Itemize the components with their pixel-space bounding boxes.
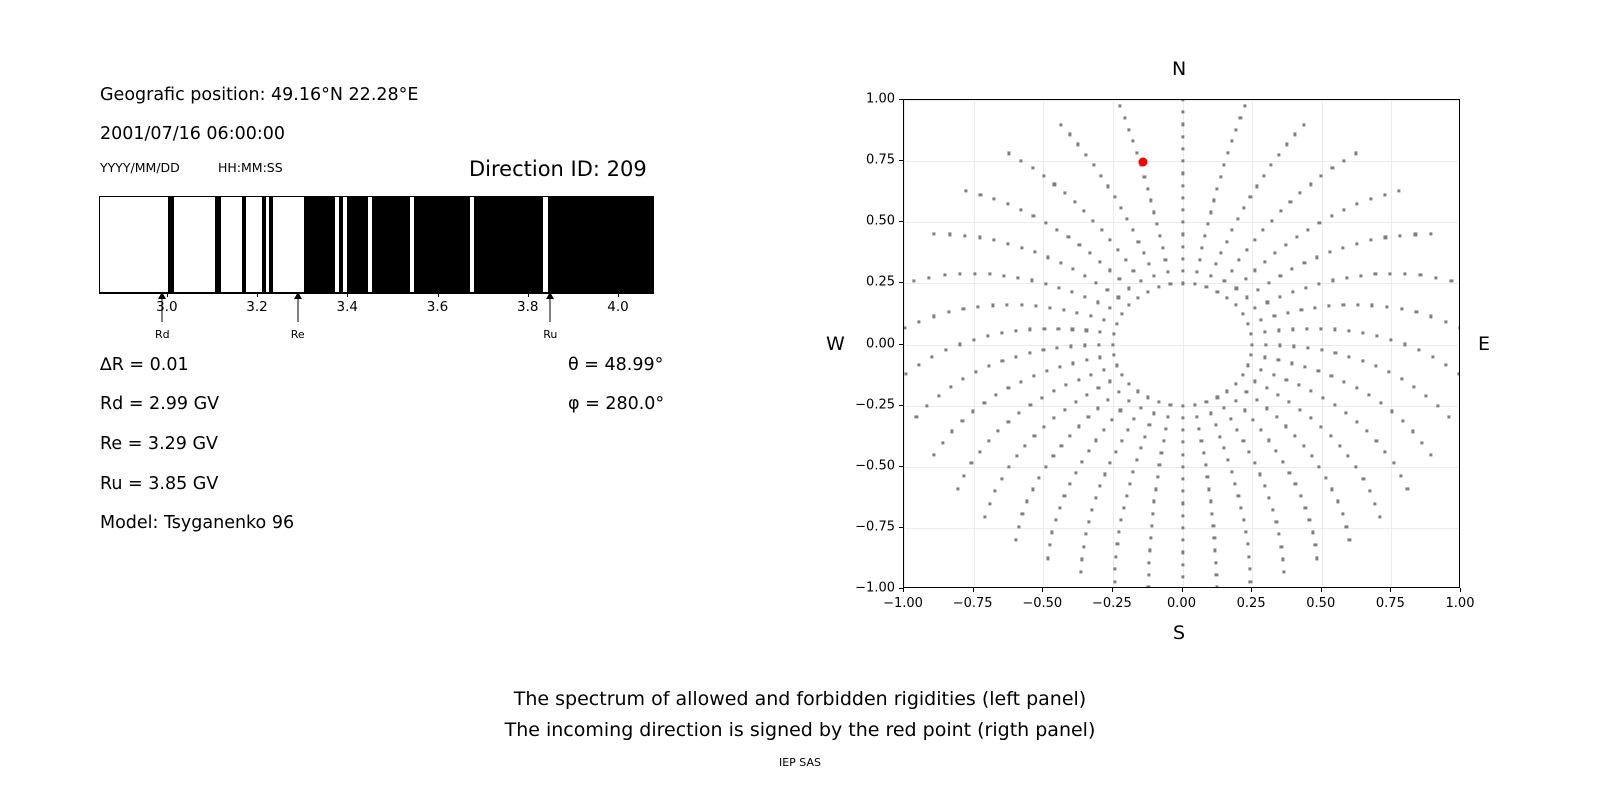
direction-point [1457, 372, 1459, 375]
direction-point [1411, 430, 1414, 433]
direction-point [1121, 312, 1124, 315]
x-axis-tick-label: −0.25 [1092, 596, 1132, 611]
direction-point [1241, 373, 1244, 376]
direction-point [1279, 274, 1282, 277]
direction-point [1253, 461, 1256, 464]
direction-point [915, 415, 918, 418]
direction-point [1127, 287, 1130, 290]
direction-point [1128, 304, 1131, 307]
x-axis-tick [903, 588, 904, 592]
direction-point [1291, 268, 1294, 271]
direction-point [1348, 539, 1351, 542]
direction-point [1362, 477, 1365, 480]
x-axis-tick [1112, 588, 1113, 592]
direction-point [1181, 441, 1184, 444]
rigidity-marker-label: Re [291, 328, 305, 341]
direction-point [1063, 191, 1066, 194]
direction-point [1107, 398, 1110, 401]
direction-point [1226, 458, 1229, 461]
direction-point [1051, 531, 1054, 534]
y-axis-tick [899, 221, 903, 222]
direction-point [1079, 571, 1082, 574]
direction-point [1181, 428, 1184, 431]
direction-point [1121, 373, 1124, 376]
direction-point [1181, 575, 1184, 578]
parameter-text: ∆R = 0.01 [100, 355, 189, 375]
direction-point [1007, 242, 1010, 245]
direction-point [1042, 349, 1045, 352]
direction-point [1006, 303, 1009, 306]
direction-point [1053, 183, 1056, 186]
direction-point [1401, 419, 1404, 422]
direction-point [1275, 520, 1278, 523]
direction-point [1112, 332, 1115, 335]
direction-point [1383, 193, 1386, 196]
direction-point [1361, 331, 1364, 334]
direction-point [1151, 512, 1154, 515]
direction-point [1070, 345, 1073, 348]
direction-point [1234, 382, 1237, 385]
direction-point [1128, 482, 1131, 485]
direction-point [1230, 470, 1233, 473]
direction-point [1277, 153, 1280, 156]
direction-point [1320, 349, 1323, 352]
direction-point [1338, 444, 1341, 447]
direction-point [1263, 260, 1266, 263]
direction-point [958, 343, 961, 346]
direction-point [1235, 287, 1238, 290]
axis-tick-label: 3.2 [246, 299, 267, 315]
direction-point [1181, 514, 1184, 517]
direction-point [1238, 259, 1241, 262]
direction-point [1068, 133, 1071, 136]
direction-point [988, 502, 991, 505]
direction-point [1209, 412, 1212, 415]
direction-point [1331, 167, 1334, 170]
direction-point [1226, 151, 1229, 154]
direction-point [1283, 571, 1286, 574]
caption-line-2: The incoming direction is signed by the … [0, 719, 1600, 741]
direction-point [1181, 184, 1184, 187]
y-axis-tick-label: 0.25 [845, 275, 895, 290]
direction-point [1281, 460, 1284, 463]
direction-point [1239, 116, 1242, 119]
direction-point [1166, 271, 1169, 274]
direction-point [1131, 229, 1134, 232]
direction-point [1125, 218, 1128, 221]
direction-point [1074, 401, 1077, 404]
direction-point [1379, 401, 1382, 404]
direction-point [1265, 407, 1268, 410]
y-axis-tick-label: 0.00 [845, 336, 895, 351]
direction-point [1092, 163, 1095, 166]
direction-point [1404, 272, 1407, 275]
direction-point [1277, 329, 1280, 332]
direction-point [1237, 494, 1240, 497]
direction-point [1029, 328, 1032, 331]
direction-point [1087, 416, 1090, 419]
direction-point [1375, 439, 1378, 442]
direction-point [1026, 500, 1029, 503]
scatter-plot-area [904, 100, 1459, 587]
direction-point [1211, 512, 1214, 515]
direction-point [1021, 512, 1024, 515]
direction-point [1286, 311, 1289, 314]
direction-point [1157, 400, 1160, 403]
gridline-vertical [974, 100, 975, 587]
direction-point [1031, 279, 1034, 282]
direction-point [1355, 386, 1358, 389]
direction-point [1270, 219, 1273, 222]
direction-point [1020, 304, 1023, 307]
direction-point [1125, 494, 1128, 497]
direction-point [1153, 500, 1156, 503]
direction-point [974, 370, 977, 373]
direction-point [917, 363, 920, 366]
direction-point [1389, 272, 1392, 275]
direction-point [1369, 239, 1372, 242]
direction-point [1226, 390, 1229, 393]
direction-point [1215, 573, 1218, 576]
direction-point [932, 233, 935, 236]
direction-point [1328, 251, 1331, 254]
direction-point [1254, 269, 1257, 272]
direction-point [1080, 558, 1083, 561]
direction-point [1116, 543, 1119, 546]
gridline-vertical [1043, 100, 1044, 587]
direction-point [1240, 506, 1243, 509]
direction-point [1419, 274, 1422, 277]
direction-point [1117, 390, 1120, 393]
direction-point [1406, 487, 1409, 490]
direction-point [1306, 346, 1309, 349]
direction-point [1202, 451, 1205, 454]
direction-point [1111, 343, 1114, 346]
direction-point [1006, 203, 1009, 206]
direction-point [1219, 175, 1222, 178]
direction-point [1294, 133, 1297, 136]
direction-point [933, 454, 936, 457]
direction-point [1231, 229, 1234, 232]
direction-point [937, 394, 940, 397]
direction-point [978, 236, 981, 239]
angle-parameter-text: θ = 48.99° [568, 355, 663, 375]
axis-tick-label: 3.0 [156, 299, 177, 315]
direction-point [1042, 425, 1045, 428]
direction-point [1057, 327, 1060, 330]
direction-point [1268, 496, 1271, 499]
direction-point [1330, 374, 1333, 377]
direction-point [1115, 364, 1118, 367]
direction-point [1109, 461, 1112, 464]
direction-point [1226, 296, 1229, 299]
direction-point [972, 410, 975, 413]
direction-point [1073, 200, 1076, 203]
direction-point [1106, 185, 1109, 188]
direction-point [1158, 463, 1161, 466]
direction-point [991, 304, 994, 307]
direction-point [1282, 558, 1285, 561]
direction-point [1275, 416, 1278, 419]
direction-point [1290, 362, 1293, 365]
x-axis-tick [1251, 588, 1252, 592]
direction-point [1024, 444, 1027, 447]
angle-parameter-text: φ = 280.0° [568, 394, 664, 414]
direction-point [1120, 518, 1123, 521]
direction-point [1316, 557, 1319, 560]
direction-point [1064, 384, 1067, 387]
axis-tick [347, 293, 348, 297]
direction-point [1266, 301, 1269, 304]
direction-point [912, 279, 915, 282]
direction-point [1059, 123, 1062, 126]
direction-point [1251, 419, 1254, 422]
direction-point [972, 338, 975, 341]
direction-point [995, 393, 998, 396]
direction-point [1242, 439, 1245, 442]
direction-point [1062, 308, 1065, 311]
direction-point [1132, 470, 1135, 473]
direction-point [1311, 531, 1314, 534]
direction-point [1117, 249, 1120, 252]
direction-point [1108, 269, 1111, 272]
direction-point [1181, 100, 1184, 102]
direction-point [904, 326, 906, 329]
direction-point [1045, 370, 1048, 373]
direction-point [1356, 303, 1359, 306]
forbidden-band [372, 197, 410, 292]
direction-point [1280, 545, 1283, 548]
direction-point [1015, 329, 1018, 332]
direction-point [1052, 390, 1055, 393]
x-axis-tick-label: −0.50 [1022, 596, 1062, 611]
direction-point [1124, 259, 1127, 262]
direction-point [1181, 551, 1184, 554]
axis-line [99, 293, 654, 294]
direction-point [1082, 545, 1085, 548]
direction-point [1245, 390, 1248, 393]
direction-point [1162, 439, 1165, 442]
direction-point [1355, 152, 1358, 155]
x-axis-tick-label: −0.75 [953, 596, 993, 611]
direction-point [1262, 174, 1265, 177]
y-axis-tick-label: −0.75 [845, 519, 895, 534]
direction-point [949, 385, 952, 388]
gridline-horizontal [904, 345, 1459, 346]
direction-point [1139, 406, 1142, 409]
direction-point [1385, 305, 1388, 308]
direction-point [928, 276, 931, 279]
direction-point [987, 439, 990, 442]
direction-point [1275, 449, 1278, 452]
direction-point [1248, 568, 1251, 571]
direction-point [1212, 199, 1215, 202]
direction-point [997, 429, 1000, 432]
direction-point [1193, 403, 1196, 406]
axis-tick [438, 293, 439, 297]
direction-point [1112, 354, 1115, 357]
direction-point [1007, 152, 1010, 155]
direction-point [1095, 281, 1098, 284]
direction-point [1019, 159, 1022, 162]
rigidity-marker-arrowhead [158, 292, 166, 299]
direction-point [1243, 409, 1246, 412]
direction-point [1209, 500, 1212, 503]
direction-point [984, 515, 987, 518]
direction-point [1278, 295, 1281, 298]
y-axis-tick-label: 0.75 [845, 153, 895, 168]
forbidden-band [339, 197, 343, 292]
direction-point [1200, 439, 1203, 442]
scatter-plot-frame [903, 99, 1460, 588]
direction-point [1279, 210, 1282, 213]
direction-point [1181, 477, 1184, 480]
spectrum-x-axis [99, 293, 654, 303]
direction-point [1128, 382, 1131, 385]
direction-point [1085, 359, 1088, 362]
y-axis-tick [899, 344, 903, 345]
y-axis-tick [899, 282, 903, 283]
direction-point [941, 441, 944, 444]
direction-point [1397, 189, 1400, 192]
direction-point [1253, 306, 1256, 309]
direction-point [1017, 525, 1020, 528]
x-axis-tick-label: 0.00 [1167, 596, 1196, 611]
forbidden-band [414, 197, 470, 292]
direction-point [1103, 473, 1106, 476]
direction-point [1181, 196, 1184, 199]
direction-point [1058, 286, 1061, 289]
direction-point [1031, 488, 1034, 491]
direction-point [1242, 518, 1245, 521]
direction-point [1331, 279, 1334, 282]
direction-point [1213, 536, 1216, 539]
x-axis-tick-label: 0.25 [1237, 596, 1266, 611]
axis-tick-label: 3.4 [337, 299, 358, 315]
direction-point [1181, 490, 1184, 493]
direction-point [1089, 314, 1092, 317]
direction-point [1241, 312, 1244, 315]
direction-point [1118, 105, 1121, 108]
direction-point [1399, 234, 1402, 237]
direction-point [1288, 401, 1291, 404]
direction-point [1299, 494, 1302, 497]
direction-point [1117, 296, 1120, 299]
direction-point [1118, 278, 1121, 281]
parameter-text: Model: Tsyganenko 96 [100, 513, 294, 533]
direction-point [1014, 539, 1017, 542]
direction-point [1444, 363, 1447, 366]
direction-point [1085, 153, 1088, 156]
direction-point [1058, 506, 1061, 509]
direction-point [1044, 221, 1047, 224]
direction-point [1259, 429, 1262, 432]
direction-point [1214, 423, 1217, 426]
direction-point [1263, 356, 1266, 359]
direction-point [1031, 167, 1034, 170]
compass-west-label: W [826, 333, 845, 355]
direction-point [1181, 526, 1184, 529]
direction-point [1234, 304, 1237, 307]
x-axis-tick-label: 1.00 [1446, 596, 1475, 611]
direction-point [1164, 427, 1167, 430]
direction-point [1234, 482, 1237, 485]
direction-point [1306, 228, 1309, 231]
rigidity-marker-arrow [162, 296, 163, 322]
direction-point [1158, 235, 1161, 238]
x-axis-tick [1042, 588, 1043, 592]
direction-point [1450, 279, 1453, 282]
direction-point [931, 355, 934, 358]
axis-tick-label: 3.8 [517, 299, 538, 315]
direction-point [1181, 111, 1184, 114]
direction-point [1343, 208, 1346, 211]
direction-point [1108, 306, 1111, 309]
direction-point [1436, 404, 1439, 407]
direction-point [1429, 454, 1432, 457]
direction-point [1044, 282, 1047, 285]
direction-point [1300, 308, 1303, 311]
direction-point [1143, 175, 1146, 178]
direction-point [1152, 412, 1155, 415]
parameter-text: Re = 3.29 GV [100, 434, 218, 454]
direction-point [1147, 586, 1150, 587]
direction-point [943, 274, 946, 277]
direction-point [1319, 327, 1322, 330]
direction-point [1310, 454, 1313, 457]
direction-point [1330, 214, 1333, 217]
direction-point [1265, 386, 1268, 389]
direction-point [1216, 187, 1219, 190]
axis-tick-label: 4.0 [607, 299, 628, 315]
direction-point [1246, 364, 1249, 367]
direction-point [1127, 128, 1130, 131]
direction-point [1090, 373, 1093, 376]
direction-point [1214, 561, 1217, 564]
direction-point [1166, 415, 1169, 418]
direction-point [1126, 428, 1129, 431]
direction-point [986, 334, 989, 337]
direction-point [1336, 500, 1339, 503]
direction-point [1071, 328, 1074, 331]
direction-point [1267, 439, 1270, 442]
direction-point [1099, 356, 1102, 359]
gridline-vertical [1391, 100, 1392, 587]
direction-point [1320, 175, 1323, 178]
direction-point [1347, 329, 1350, 332]
direction-point [1033, 251, 1036, 254]
direction-point [1068, 434, 1071, 437]
direction-point [1007, 420, 1010, 423]
direction-point [1181, 172, 1184, 175]
direction-id-label: Direction ID: 209 [469, 157, 647, 181]
direction-point [1215, 263, 1218, 266]
axis-tick [167, 293, 168, 297]
direction-point [1230, 269, 1233, 272]
direction-point [1152, 274, 1155, 277]
direction-point [1289, 200, 1292, 203]
direction-point [1324, 476, 1327, 479]
forbidden-band [262, 197, 266, 292]
direction-point [1333, 328, 1336, 331]
direction-point [1198, 427, 1201, 430]
direction-point [1223, 163, 1226, 166]
direction-point [1120, 439, 1123, 442]
y-axis-tick-label: −0.50 [845, 458, 895, 473]
direction-point [1209, 211, 1212, 214]
direction-point [1032, 374, 1035, 377]
direction-point [1085, 329, 1088, 332]
